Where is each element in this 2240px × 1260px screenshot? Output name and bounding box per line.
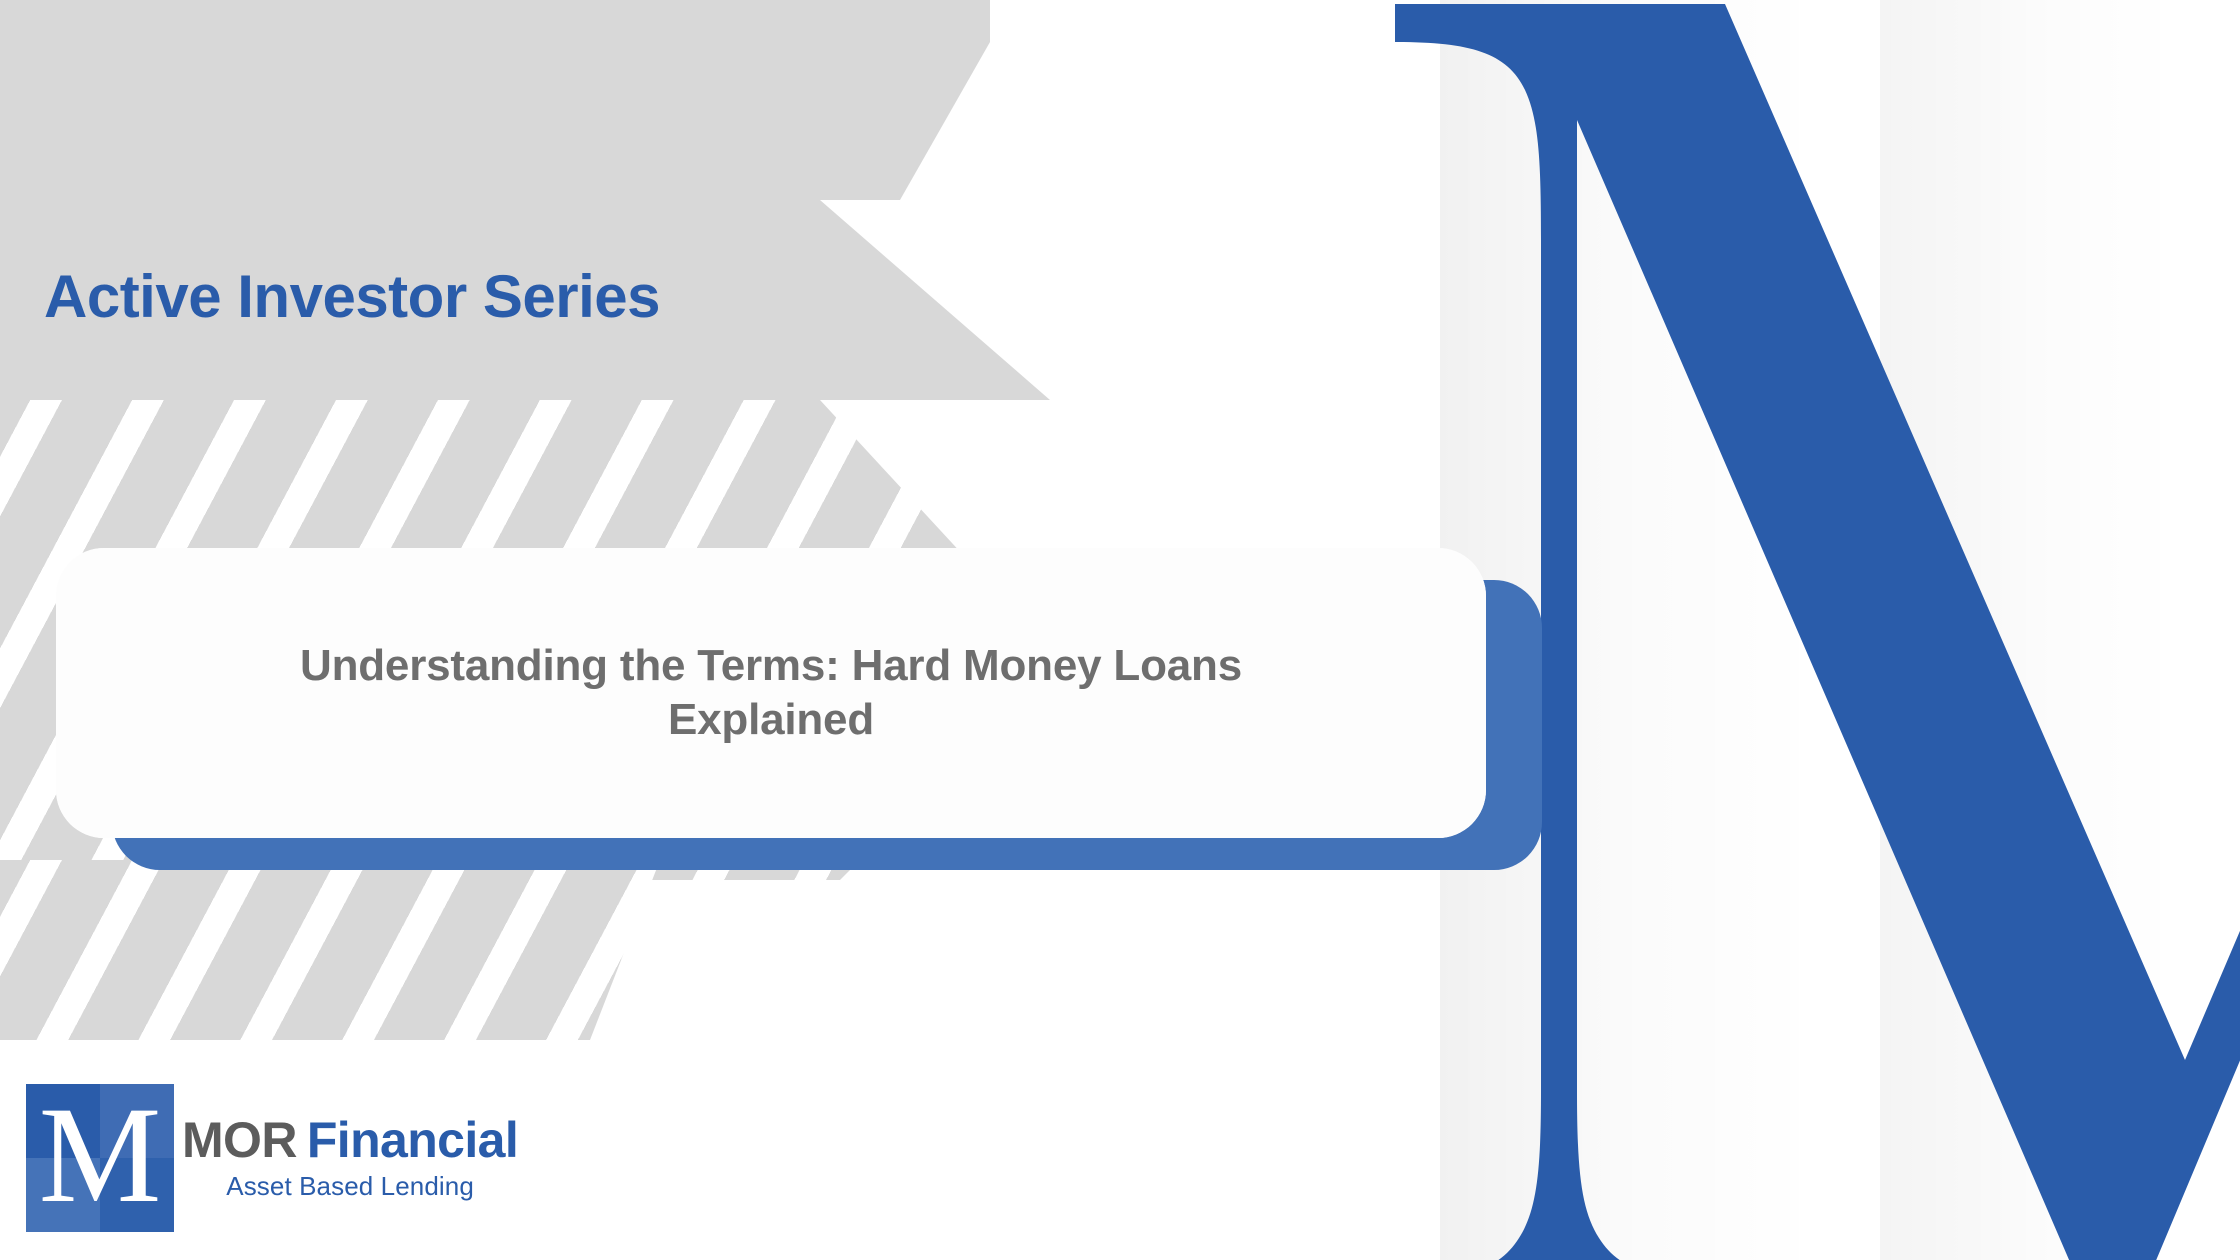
title-card-surface: Understanding the Terms: Hard Money Loan… xyxy=(56,548,1486,838)
title-card-text: Understanding the Terms: Hard Money Loan… xyxy=(231,639,1311,746)
diagonal-hatch-pattern-lower xyxy=(0,860,720,1040)
logo-wordmark-financial: Financial xyxy=(307,1112,518,1168)
page-headline: Active Investor Series xyxy=(44,262,660,331)
logo-monogram-icon: M xyxy=(26,1084,174,1232)
logo-tagline: Asset Based Lending xyxy=(182,1171,518,1202)
gray-band-top-shape xyxy=(0,0,990,200)
logo-wordmark: MORFinancial xyxy=(182,1114,518,1167)
brand-logo[interactable]: M MORFinancial Asset Based Lending xyxy=(26,1084,518,1232)
logo-monogram-letter: M xyxy=(26,1084,174,1232)
logo-wordmark-mor: MOR xyxy=(182,1112,297,1168)
logo-text-block: MORFinancial Asset Based Lending xyxy=(182,1114,518,1202)
title-card: Understanding the Terms: Hard Money Loan… xyxy=(56,548,1486,838)
slide-canvas: Active Investor Series Understanding the… xyxy=(0,0,2240,1260)
